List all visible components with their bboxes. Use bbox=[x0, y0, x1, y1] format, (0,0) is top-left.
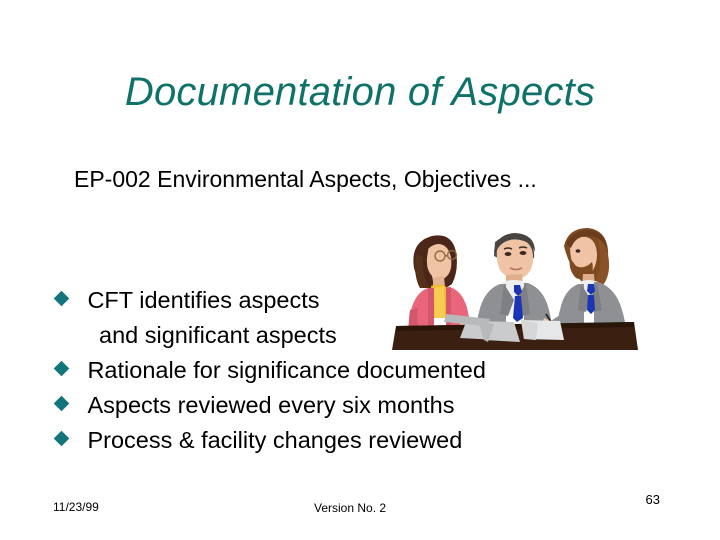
list-item-label: Process & facility changes reviewed bbox=[71, 423, 462, 458]
list-item: CFT identifies aspects bbox=[56, 283, 656, 318]
diamond-bullet-icon bbox=[54, 431, 70, 447]
list-item-label: Rationale for significance documented bbox=[71, 353, 485, 388]
diamond-bullet-icon bbox=[54, 291, 70, 307]
slide-subtitle: EP-002 Environmental Aspects, Objectives… bbox=[74, 166, 537, 193]
page-title: Documentation of Aspects bbox=[0, 70, 720, 115]
list-item-label: Aspects reviewed every six months bbox=[71, 388, 454, 423]
page-number: 63 bbox=[0, 492, 660, 507]
list-item: Aspects reviewed every six months bbox=[56, 388, 656, 423]
diamond-bullet-icon bbox=[54, 396, 70, 412]
list-item: and significant aspects bbox=[56, 318, 656, 353]
presentation-slide: Documentation of Aspects EP-002 Environm… bbox=[0, 0, 720, 540]
list-item: Process & facility changes reviewed bbox=[56, 423, 656, 458]
bullet-list: CFT identifies aspects and significant a… bbox=[56, 283, 656, 458]
diamond-bullet-icon bbox=[54, 361, 70, 377]
list-item-label: CFT identifies aspects bbox=[71, 283, 319, 318]
list-item-label: and significant aspects bbox=[56, 318, 337, 353]
list-item: Rationale for significance documented bbox=[56, 353, 656, 388]
